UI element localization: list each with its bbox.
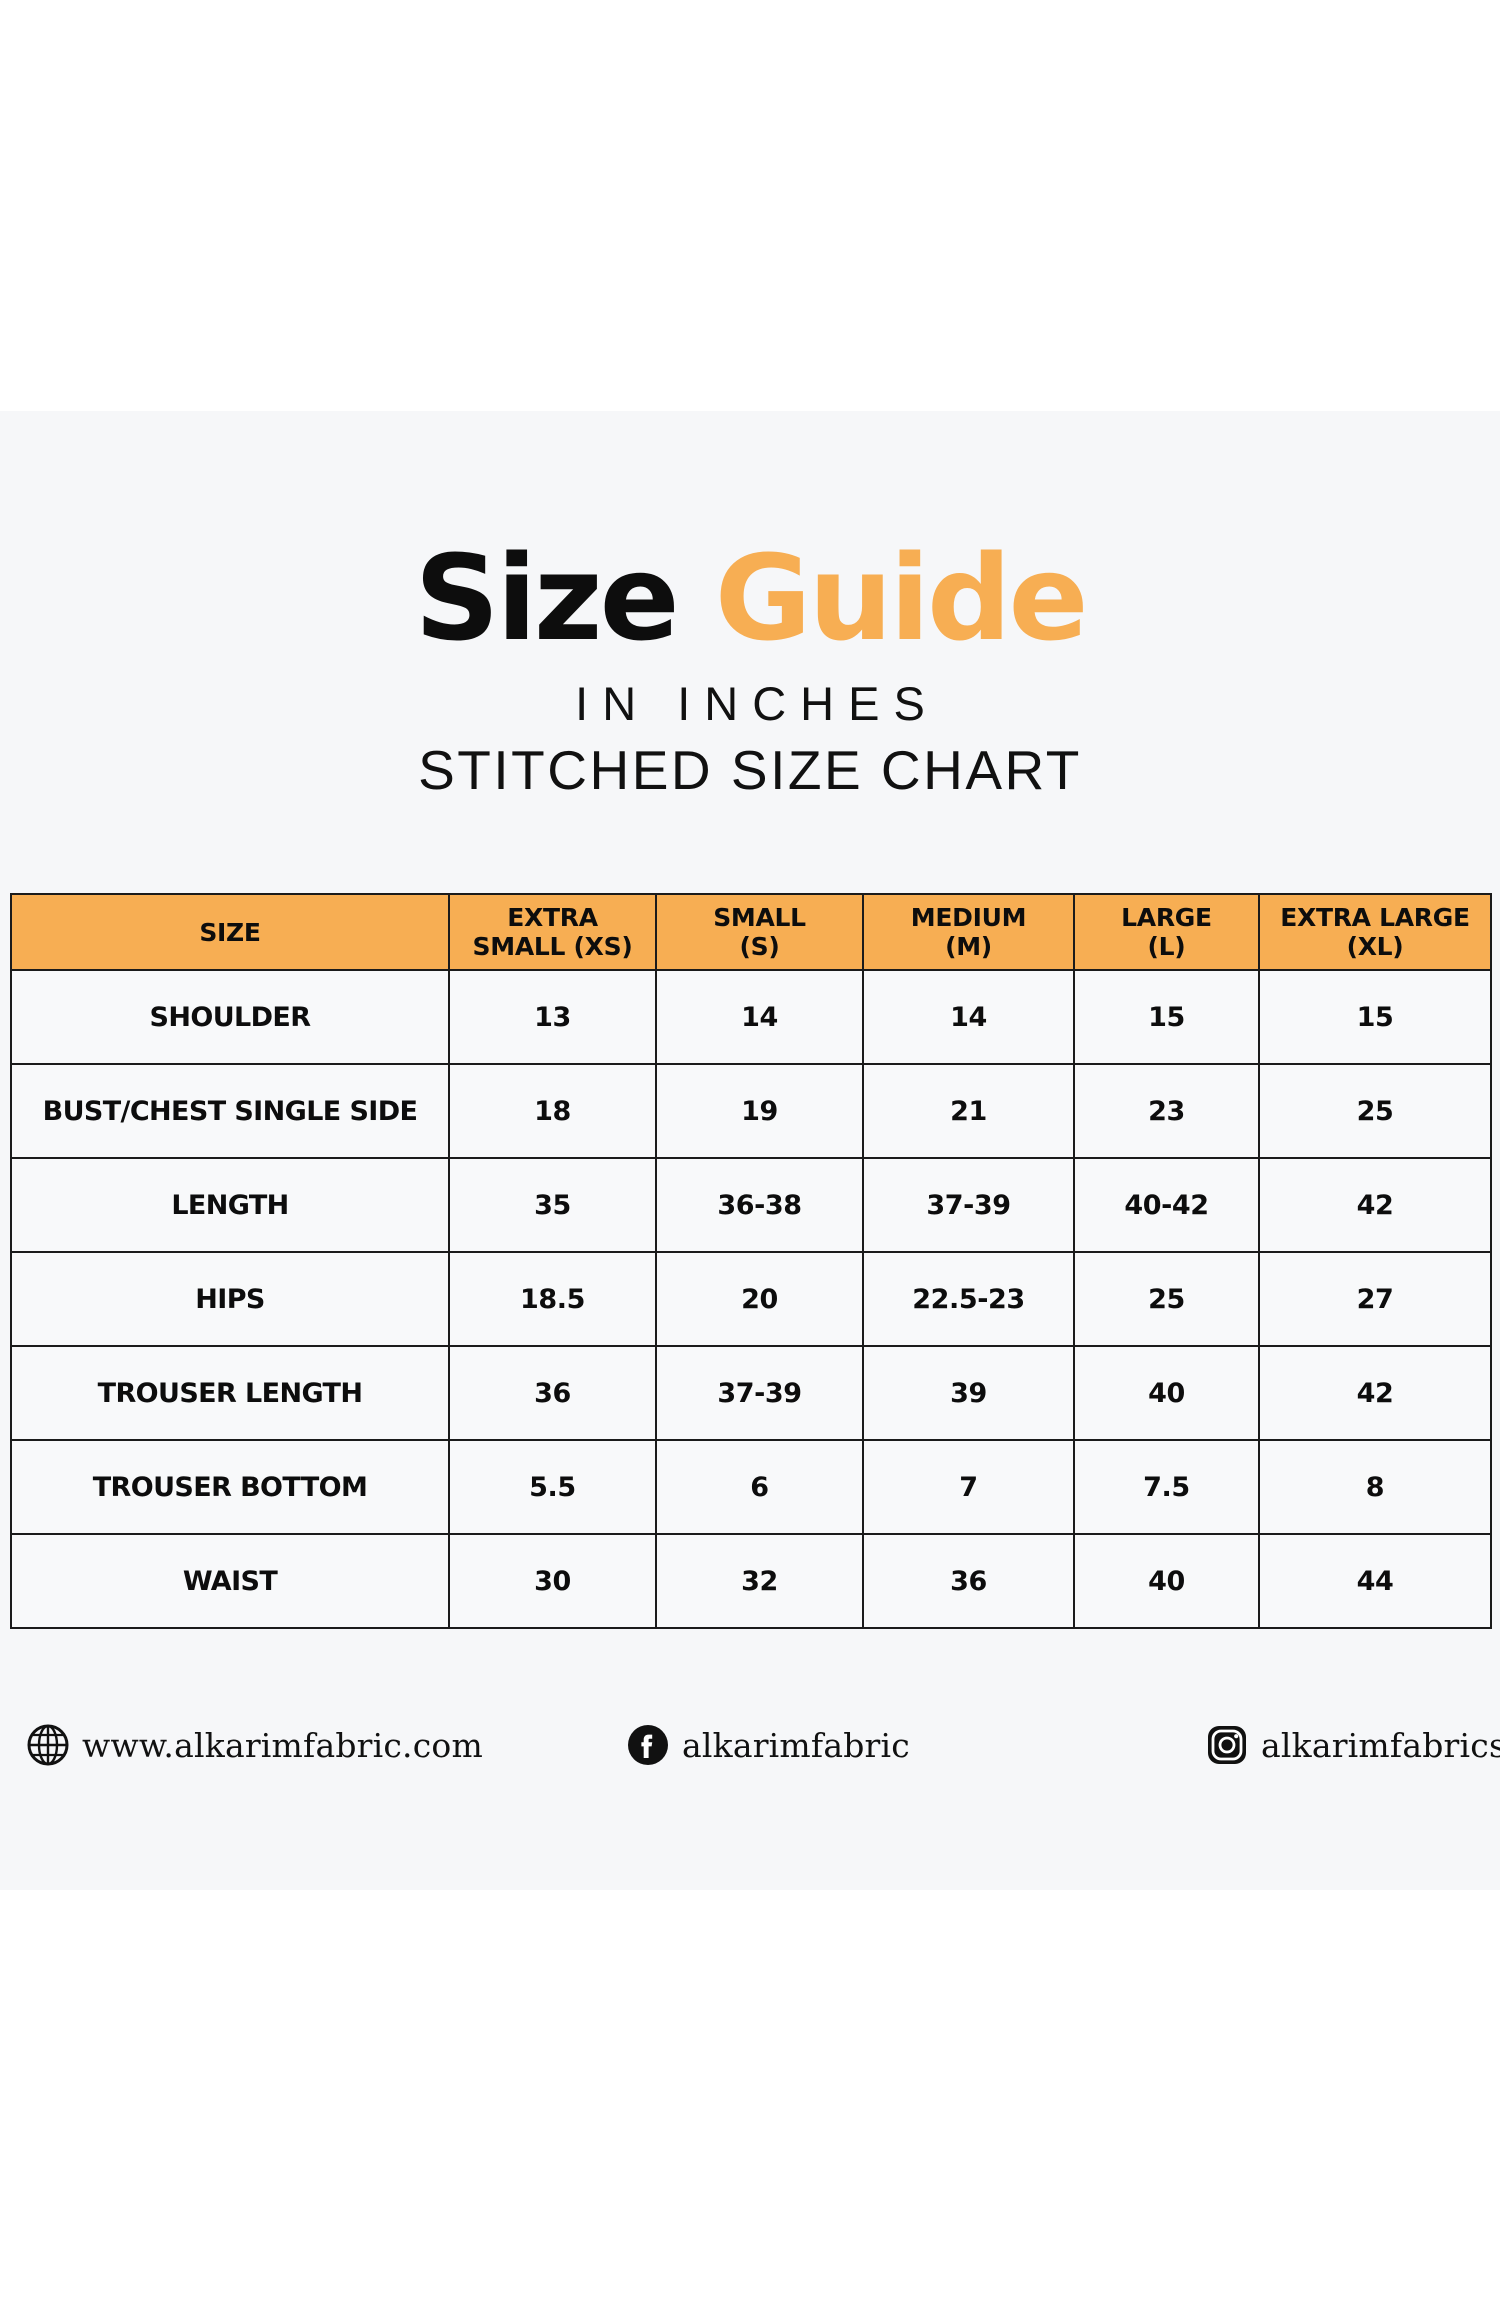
cell-l: 40 bbox=[1074, 1346, 1259, 1440]
table-row: TROUSER BOTTOM 5.5 6 7 7.5 8 bbox=[11, 1440, 1491, 1534]
cell-xl: 42 bbox=[1259, 1158, 1491, 1252]
row-label: HIPS bbox=[11, 1252, 449, 1346]
size-table-container: SIZE EXTRASMALL (XS) SMALL(S) MEDIUM(M) … bbox=[10, 893, 1490, 1629]
page-title: Size Guide bbox=[0, 539, 1500, 657]
cell-s: 14 bbox=[656, 970, 863, 1064]
title-part-size: Size bbox=[414, 529, 676, 667]
subtitle-chart-type: STITCHED SIZE CHART bbox=[0, 742, 1500, 800]
cell-l: 40 bbox=[1074, 1534, 1259, 1628]
facebook-icon bbox=[626, 1723, 670, 1767]
cell-s: 19 bbox=[656, 1064, 863, 1158]
footer-contact-bar: www.alkarimfabric.com alkarimfabric bbox=[0, 1645, 1500, 1845]
cell-xl: 42 bbox=[1259, 1346, 1491, 1440]
table-row: HIPS 18.5 20 22.5-23 25 27 bbox=[11, 1252, 1491, 1346]
footer-facebook[interactable]: alkarimfabric bbox=[626, 1723, 910, 1767]
title-part-guide: Guide bbox=[715, 529, 1086, 667]
cell-xs: 13 bbox=[449, 970, 656, 1064]
cell-m: 14 bbox=[863, 970, 1074, 1064]
cell-xs: 30 bbox=[449, 1534, 656, 1628]
table-row: TROUSER LENGTH 36 37-39 39 40 42 bbox=[11, 1346, 1491, 1440]
row-label: TROUSER BOTTOM bbox=[11, 1440, 449, 1534]
footer-website[interactable]: www.alkarimfabric.com bbox=[26, 1723, 483, 1767]
col-header-l: LARGE(L) bbox=[1074, 894, 1259, 970]
cell-m: 37-39 bbox=[863, 1158, 1074, 1252]
size-guide-panel: Size Guide IN INCHES STITCHED SIZE CHART… bbox=[0, 411, 1500, 1890]
col-header-s-line2: (S) bbox=[740, 932, 780, 961]
table-row: SHOULDER 13 14 14 15 15 bbox=[11, 970, 1491, 1064]
table-header-row: SIZE EXTRASMALL (XS) SMALL(S) MEDIUM(M) … bbox=[11, 894, 1491, 970]
row-label: TROUSER LENGTH bbox=[11, 1346, 449, 1440]
cell-l: 23 bbox=[1074, 1064, 1259, 1158]
cell-xs: 36 bbox=[449, 1346, 656, 1440]
footer-instagram-label: alkarimfabrics bbox=[1261, 1726, 1500, 1765]
cell-s: 20 bbox=[656, 1252, 863, 1346]
cell-m: 36 bbox=[863, 1534, 1074, 1628]
row-label: SHOULDER bbox=[11, 970, 449, 1064]
cell-m: 22.5-23 bbox=[863, 1252, 1074, 1346]
cell-l: 15 bbox=[1074, 970, 1259, 1064]
col-header-l-line1: LARGE bbox=[1121, 903, 1212, 932]
col-header-xs: EXTRASMALL (XS) bbox=[449, 894, 656, 970]
table-row: BUST/CHEST SINGLE SIDE 18 19 21 23 25 bbox=[11, 1064, 1491, 1158]
cell-xs: 18.5 bbox=[449, 1252, 656, 1346]
col-header-m-line1: MEDIUM bbox=[911, 903, 1026, 932]
row-label: WAIST bbox=[11, 1534, 449, 1628]
cell-s: 32 bbox=[656, 1534, 863, 1628]
cell-xs: 18 bbox=[449, 1064, 656, 1158]
cell-xl: 15 bbox=[1259, 970, 1491, 1064]
cell-l: 40-42 bbox=[1074, 1158, 1259, 1252]
cell-xl: 27 bbox=[1259, 1252, 1491, 1346]
table-row: WAIST 30 32 36 40 44 bbox=[11, 1534, 1491, 1628]
col-header-s-line1: SMALL bbox=[713, 903, 806, 932]
col-header-m: MEDIUM(M) bbox=[863, 894, 1074, 970]
heading-block: Size Guide IN INCHES STITCHED SIZE CHART bbox=[0, 411, 1500, 800]
cell-s: 36-38 bbox=[656, 1158, 863, 1252]
cell-xs: 35 bbox=[449, 1158, 656, 1252]
col-header-xl: EXTRA LARGE(XL) bbox=[1259, 894, 1491, 970]
cell-m: 39 bbox=[863, 1346, 1074, 1440]
instagram-icon bbox=[1205, 1723, 1249, 1767]
footer-facebook-label: alkarimfabric bbox=[682, 1726, 910, 1765]
cell-l: 7.5 bbox=[1074, 1440, 1259, 1534]
cell-s: 37-39 bbox=[656, 1346, 863, 1440]
col-header-xl-line1: EXTRA LARGE bbox=[1280, 903, 1470, 932]
cell-xs: 5.5 bbox=[449, 1440, 656, 1534]
cell-xl: 8 bbox=[1259, 1440, 1491, 1534]
stitched-size-chart-table: SIZE EXTRASMALL (XS) SMALL(S) MEDIUM(M) … bbox=[10, 893, 1492, 1629]
table-row: LENGTH 35 36-38 37-39 40-42 42 bbox=[11, 1158, 1491, 1252]
footer-website-label: www.alkarimfabric.com bbox=[82, 1726, 483, 1765]
globe-icon bbox=[26, 1723, 70, 1767]
footer-instagram[interactable]: alkarimfabrics bbox=[1205, 1723, 1500, 1767]
col-header-xl-line2: (XL) bbox=[1347, 932, 1404, 961]
col-header-size-line1: SIZE bbox=[199, 918, 260, 947]
col-header-size: SIZE bbox=[11, 894, 449, 970]
col-header-xs-line1: EXTRA bbox=[507, 903, 598, 932]
col-header-xs-line2: SMALL (XS) bbox=[473, 932, 633, 961]
cell-s: 6 bbox=[656, 1440, 863, 1534]
cell-l: 25 bbox=[1074, 1252, 1259, 1346]
cell-xl: 44 bbox=[1259, 1534, 1491, 1628]
cell-xl: 25 bbox=[1259, 1064, 1491, 1158]
row-label: LENGTH bbox=[11, 1158, 449, 1252]
cell-m: 21 bbox=[863, 1064, 1074, 1158]
row-label: BUST/CHEST SINGLE SIDE bbox=[11, 1064, 449, 1158]
col-header-s: SMALL(S) bbox=[656, 894, 863, 970]
col-header-l-line2: (L) bbox=[1148, 932, 1186, 961]
cell-m: 7 bbox=[863, 1440, 1074, 1534]
subtitle-units: IN INCHES bbox=[0, 679, 1500, 728]
col-header-m-line2: (M) bbox=[945, 932, 992, 961]
